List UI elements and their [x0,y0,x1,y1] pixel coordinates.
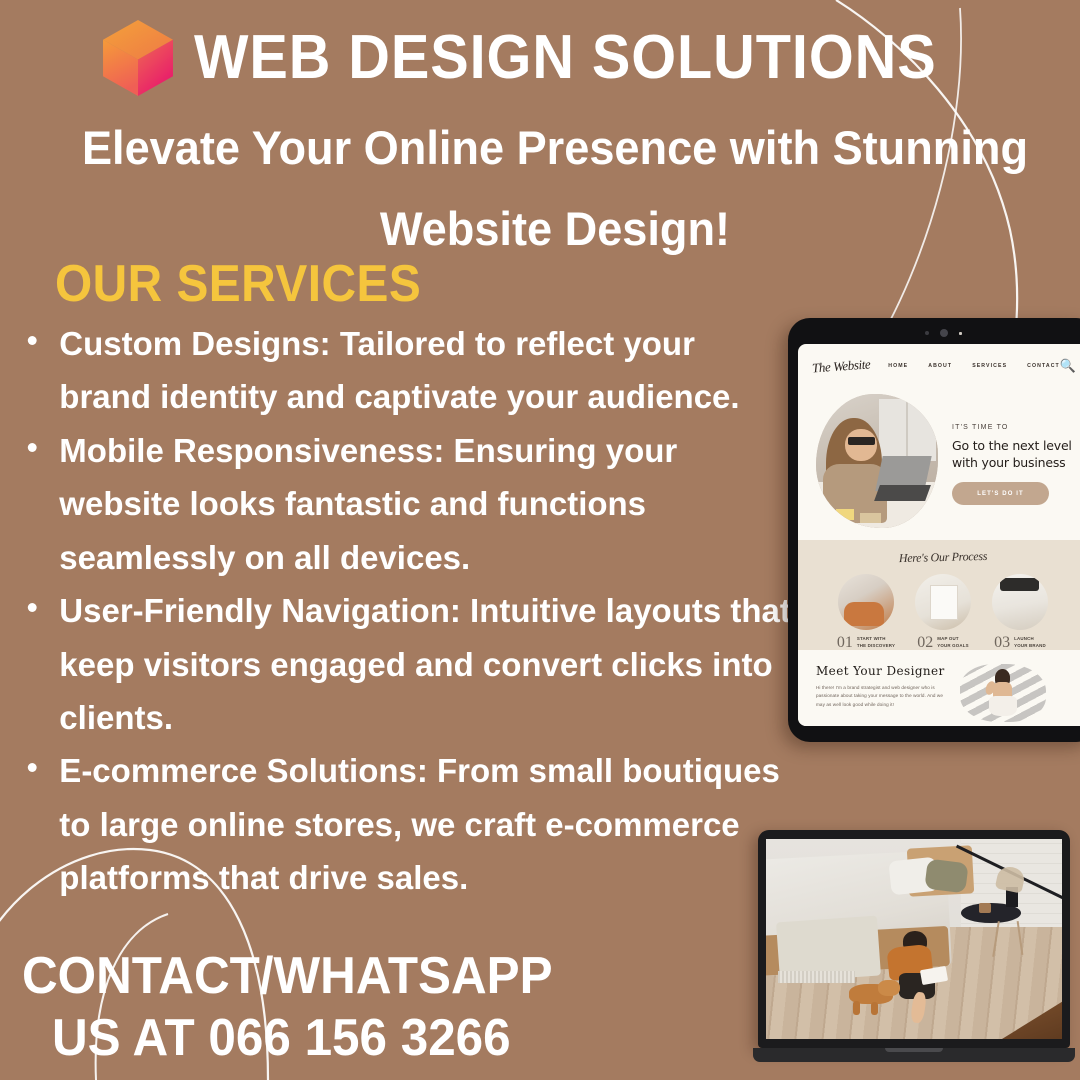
hero-headline-line2: with your business [952,455,1072,472]
laptop-base [753,1048,1075,1062]
camera-dot-icon [925,331,929,335]
header: WEB DESIGN SOLUTIONS [100,18,992,98]
contact-phone: US AT 066 156 3266 [52,1012,511,1064]
process-photo-discovery [838,574,894,630]
process-step-line2: YOUR GOALS [937,643,969,648]
camera-sensor-icon [959,332,962,335]
designer-title: Meet Your Designer [816,664,948,678]
site-logo[interactable]: The Website [812,356,883,377]
hero-eyebrow: IT'S TIME TO [952,424,1072,431]
process-step-line1: LAUNCH [1014,636,1034,641]
process-step-number: 02 [917,635,933,651]
hero-photo-woman-at-laptop [816,394,938,528]
process-step: 03 LAUNCH YOUR BRAND [990,574,1050,651]
process-photo-brand [992,574,1048,630]
services-heading: OUR SERVICES [55,258,421,310]
site-hero: IT'S TIME TO Go to the next level with y… [798,388,1080,540]
process-steps: 01 START WITH THE DISCOVERY 02 M [798,574,1080,651]
list-item: User-Friendly Navigation: Intuitive layo… [14,585,792,745]
process-step-number: 03 [994,635,1010,651]
laptop-lid [758,830,1070,1048]
tagline: Elevate Your Online Presence with Stunni… [80,108,1030,270]
site-navbar: The Website HOME ABOUT SERVICES CONTACT … [798,344,1080,388]
site-nav-links: HOME ABOUT SERVICES CONTACT [888,363,1060,369]
nav-item-about[interactable]: ABOUT [928,363,952,369]
designer-body: Hi there! I'm a brand strategist and web… [816,684,948,709]
list-item: Custom Designs: Tailored to reflect your… [14,318,792,425]
process-step-line2: THE DISCOVERY [857,643,895,648]
hero-headline-line1: Go to the next level [952,438,1072,455]
tablet-mockup: The Website HOME ABOUT SERVICES CONTACT … [788,318,1080,742]
services-list: Custom Designs: Tailored to reflect your… [14,318,804,906]
process-step: 01 START WITH THE DISCOVERY [836,574,896,651]
hero-copy: IT'S TIME TO Go to the next level with y… [952,394,1072,505]
nav-item-contact[interactable]: CONTACT [1027,363,1060,369]
list-item: Mobile Responsiveness: Ensuring your web… [14,425,792,585]
designer-photo [960,664,1046,722]
list-item: E-commerce Solutions: From small boutiqu… [14,745,792,905]
site-designer-section: Meet Your Designer Hi there! I'm a brand… [798,650,1080,726]
process-step-line1: START WITH [857,636,886,641]
process-step-number: 01 [837,635,853,651]
process-photo-goals [915,574,971,630]
lets-do-it-button[interactable]: LET'S DO IT [952,482,1049,505]
cube-icon [100,18,176,98]
camera-lens-icon [940,329,948,337]
search-icon[interactable]: 🔍 [1060,358,1076,374]
site-process-section: Here's Our Process 01 START WITH THE DIS… [798,540,1080,650]
page-title: WEB DESIGN SOLUTIONS [194,27,937,89]
contact-label: CONTACT/WHATSAPP [22,950,553,1002]
process-title: Here's Our Process [798,546,1080,569]
tablet-screen: The Website HOME ABOUT SERVICES CONTACT … [798,344,1080,726]
tablet-camera-dots [788,329,1080,337]
laptop-trackpad-notch [885,1048,943,1052]
laptop-screen-photo-bedroom [766,839,1062,1039]
nav-item-services[interactable]: SERVICES [972,363,1007,369]
poster-canvas: WEB DESIGN SOLUTIONS Elevate Your Online… [0,0,1080,1080]
laptop-mockup [758,830,1080,1080]
nav-item-home[interactable]: HOME [888,363,908,369]
process-step: 02 MAP OUT YOUR GOALS [913,574,973,651]
process-step-line1: MAP OUT [937,636,959,641]
process-step-line2: YOUR BRAND [1014,643,1046,648]
